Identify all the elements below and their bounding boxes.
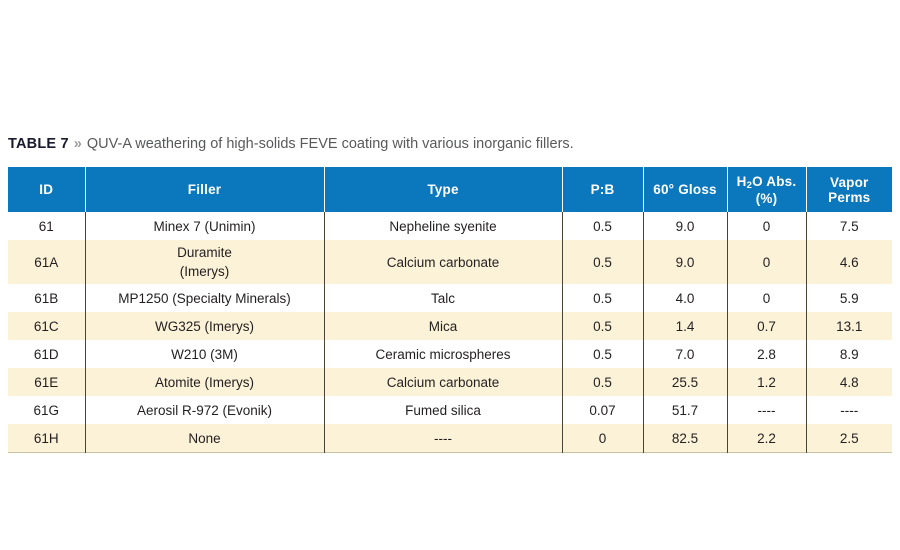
cell-vapor-perms: 5.9 [806, 284, 892, 312]
cell-gloss: 1.4 [643, 312, 727, 340]
cell-gloss: 4.0 [643, 284, 727, 312]
cell-id: 61G [8, 396, 85, 424]
cell-pb: 0.5 [562, 284, 643, 312]
table-row: 61G Aerosil R-972 (Evonik) Fumed silica … [8, 396, 892, 424]
h2o-h: H [737, 174, 747, 189]
column-header-vapor-line2: Perms [828, 190, 870, 205]
column-header-id: ID [8, 167, 85, 212]
cell-vapor-perms: 4.6 [806, 240, 892, 284]
cell-gloss: 51.7 [643, 396, 727, 424]
cell-type: Mica [324, 312, 562, 340]
cell-filler: Duramite (Imerys) [85, 240, 324, 284]
cell-id: 61 [8, 212, 85, 240]
table-header-row: ID Filler Type P:B 60° Gloss H2O Abs. (%… [8, 167, 892, 212]
cell-filler: MP1250 (Specialty Minerals) [85, 284, 324, 312]
cell-filler-line2: (Imerys) [89, 262, 321, 281]
table-header: ID Filler Type P:B 60° Gloss H2O Abs. (%… [8, 167, 892, 212]
cell-id: 61E [8, 368, 85, 396]
table-row: 61D W210 (3M) Ceramic microspheres 0.5 7… [8, 340, 892, 368]
cell-gloss: 7.0 [643, 340, 727, 368]
cell-pb: 0.5 [562, 312, 643, 340]
cell-pb: 0.5 [562, 212, 643, 240]
column-header-water-absorption-line2: (%) [756, 191, 778, 206]
column-header-vapor-perms: Vapor Perms [806, 167, 892, 212]
cell-h2o-abs: 0 [727, 240, 806, 284]
double-chevron-icon: » [73, 136, 83, 152]
cell-id: 61B [8, 284, 85, 312]
cell-id: 61A [8, 240, 85, 284]
cell-h2o-abs: 0 [727, 284, 806, 312]
column-header-type: Type [324, 167, 562, 212]
cell-filler: WG325 (Imerys) [85, 312, 324, 340]
cell-filler: Minex 7 (Unimin) [85, 212, 324, 240]
cell-vapor-perms: 8.9 [806, 340, 892, 368]
cell-pb: 0.5 [562, 368, 643, 396]
cell-gloss: 82.5 [643, 424, 727, 453]
cell-pb: 0 [562, 424, 643, 453]
quv-a-weathering-table: ID Filler Type P:B 60° Gloss H2O Abs. (%… [8, 167, 892, 453]
cell-filler: Atomite (Imerys) [85, 368, 324, 396]
table-row: 61H None ---- 0 82.5 2.2 2.5 [8, 424, 892, 453]
cell-id: 61C [8, 312, 85, 340]
cell-vapor-perms: 13.1 [806, 312, 892, 340]
table-row: 61B MP1250 (Specialty Minerals) Talc 0.5… [8, 284, 892, 312]
cell-type: Fumed silica [324, 396, 562, 424]
cell-type: Nepheline syenite [324, 212, 562, 240]
cell-gloss: 9.0 [643, 240, 727, 284]
cell-id: 61D [8, 340, 85, 368]
cell-vapor-perms: 4.8 [806, 368, 892, 396]
cell-vapor-perms: 2.5 [806, 424, 892, 453]
column-header-vapor-line1: Vapor [830, 175, 869, 190]
cell-vapor-perms: ---- [806, 396, 892, 424]
table-caption-label: TABLE 7 [8, 136, 69, 152]
cell-vapor-perms: 7.5 [806, 212, 892, 240]
cell-type: Ceramic microspheres [324, 340, 562, 368]
column-header-water-absorption-line1: H2O Abs. [737, 174, 797, 189]
cell-pb: 0.07 [562, 396, 643, 424]
cell-gloss: 25.5 [643, 368, 727, 396]
column-header-water-absorption: H2O Abs. (%) [727, 167, 806, 212]
cell-h2o-abs: 2.8 [727, 340, 806, 368]
cell-filler: W210 (3M) [85, 340, 324, 368]
cell-type: Calcium carbonate [324, 240, 562, 284]
table-row: 61C WG325 (Imerys) Mica 0.5 1.4 0.7 13.1 [8, 312, 892, 340]
cell-h2o-abs: 0.7 [727, 312, 806, 340]
cell-pb: 0.5 [562, 240, 643, 284]
table-container: ID Filler Type P:B 60° Gloss H2O Abs. (%… [8, 167, 892, 453]
cell-id: 61H [8, 424, 85, 453]
h2o-rest: O Abs. [752, 174, 796, 189]
cell-type: Talc [324, 284, 562, 312]
table-row: 61E Atomite (Imerys) Calcium carbonate 0… [8, 368, 892, 396]
table-body: 61 Minex 7 (Unimin) Nepheline syenite 0.… [8, 212, 892, 453]
column-header-filler: Filler [85, 167, 324, 212]
cell-h2o-abs: ---- [727, 396, 806, 424]
cell-h2o-abs: 0 [727, 212, 806, 240]
table-row: 61 Minex 7 (Unimin) Nepheline syenite 0.… [8, 212, 892, 240]
cell-h2o-abs: 2.2 [727, 424, 806, 453]
table-row: 61A Duramite (Imerys) Calcium carbonate … [8, 240, 892, 284]
cell-filler: Aerosil R-972 (Evonik) [85, 396, 324, 424]
cell-gloss: 9.0 [643, 212, 727, 240]
table-figure-page: TABLE 7 » QUV-A weathering of high-solid… [0, 0, 900, 550]
cell-h2o-abs: 1.2 [727, 368, 806, 396]
cell-pb: 0.5 [562, 340, 643, 368]
cell-filler-line1: Duramite [89, 243, 321, 262]
table-caption-text: QUV-A weathering of high-solids FEVE coa… [87, 136, 574, 152]
cell-filler: None [85, 424, 324, 453]
cell-type: ---- [324, 424, 562, 453]
cell-type: Calcium carbonate [324, 368, 562, 396]
column-header-pb: P:B [562, 167, 643, 212]
h2o-subscript: 2 [747, 180, 752, 191]
table-caption: TABLE 7 » QUV-A weathering of high-solid… [8, 134, 574, 154]
column-header-gloss: 60° Gloss [643, 167, 727, 212]
